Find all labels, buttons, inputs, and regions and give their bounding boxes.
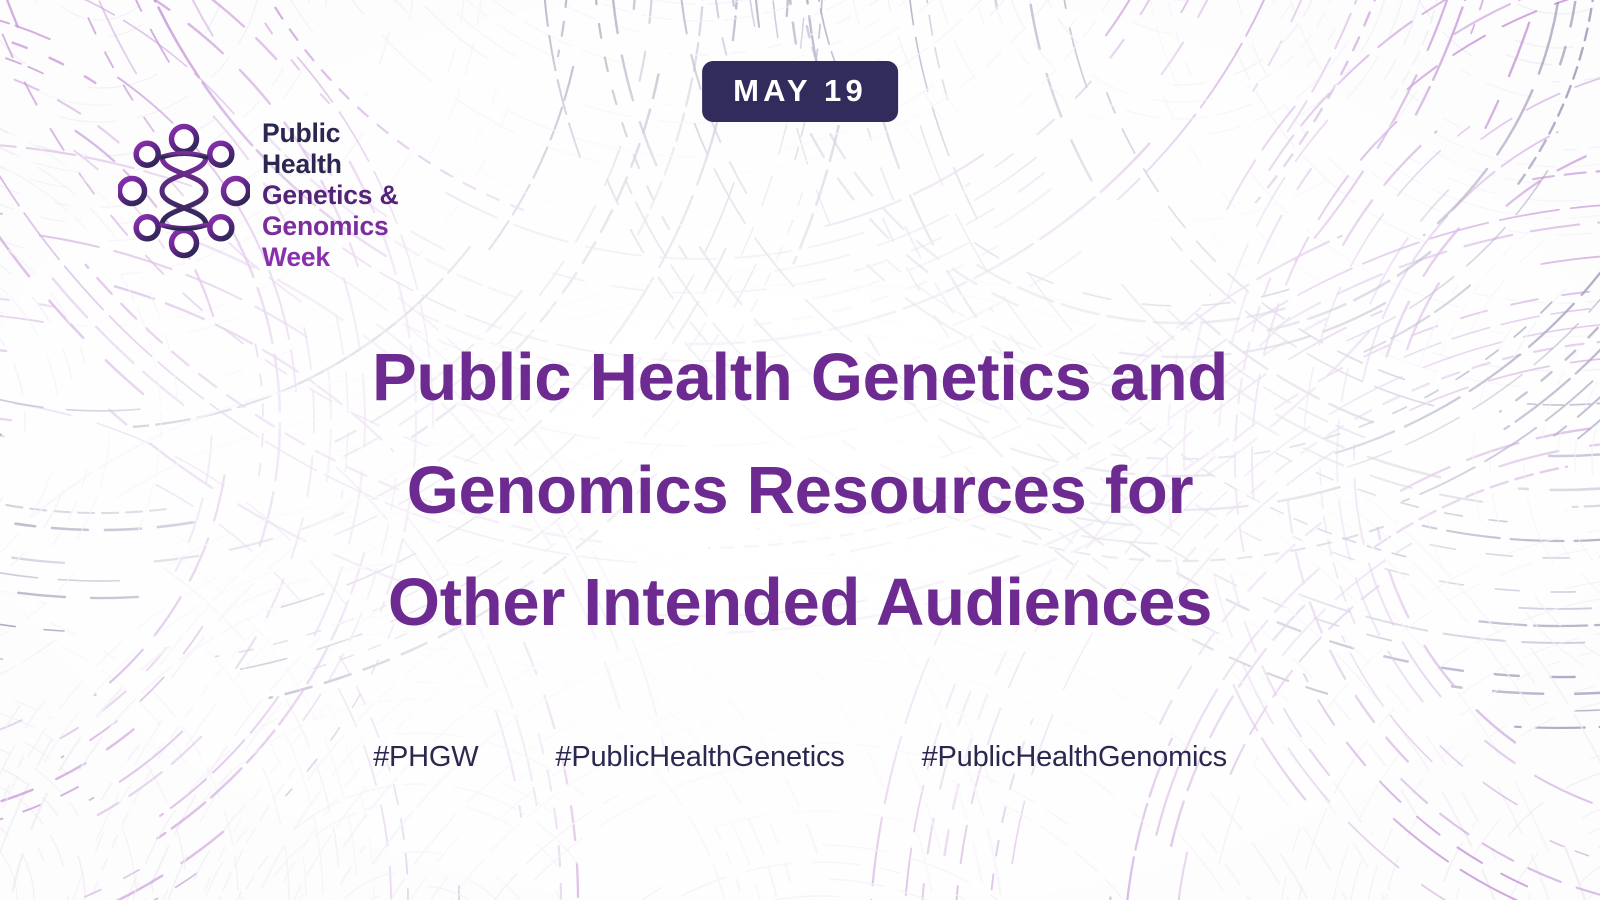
logo-wordmark-line-5: Week [262,242,398,273]
page-title-line-2: Genomics Resources for [0,435,1600,548]
hashtag-item: #PublicHealthGenetics [555,741,844,774]
event-logo: Public Health Genetics & Genomics Week [118,112,398,273]
date-badge: MAY 19 [702,61,898,122]
hashtag-item: #PublicHealthGenomics [922,741,1227,774]
hashtag-list: #PHGW #PublicHealthGenetics #PublicHealt… [0,741,1600,774]
logo-wordmark-line-1: Public [262,118,398,149]
event-title-slide: MAY 19 [0,0,1600,900]
page-title: Public Health Genetics and Genomics Reso… [0,322,1600,660]
logo-wordmark-line-2: Health [262,149,398,180]
logo-wordmark-line-3: Genetics & [262,180,398,211]
dna-helix-network-icon [118,112,250,270]
hashtag-item: #PHGW [373,741,478,774]
page-title-line-3: Other Intended Audiences [0,547,1600,660]
page-title-line-1: Public Health Genetics and [0,322,1600,435]
logo-wordmark: Public Health Genetics & Genomics Week [262,118,398,273]
logo-wordmark-line-4: Genomics [262,211,398,242]
